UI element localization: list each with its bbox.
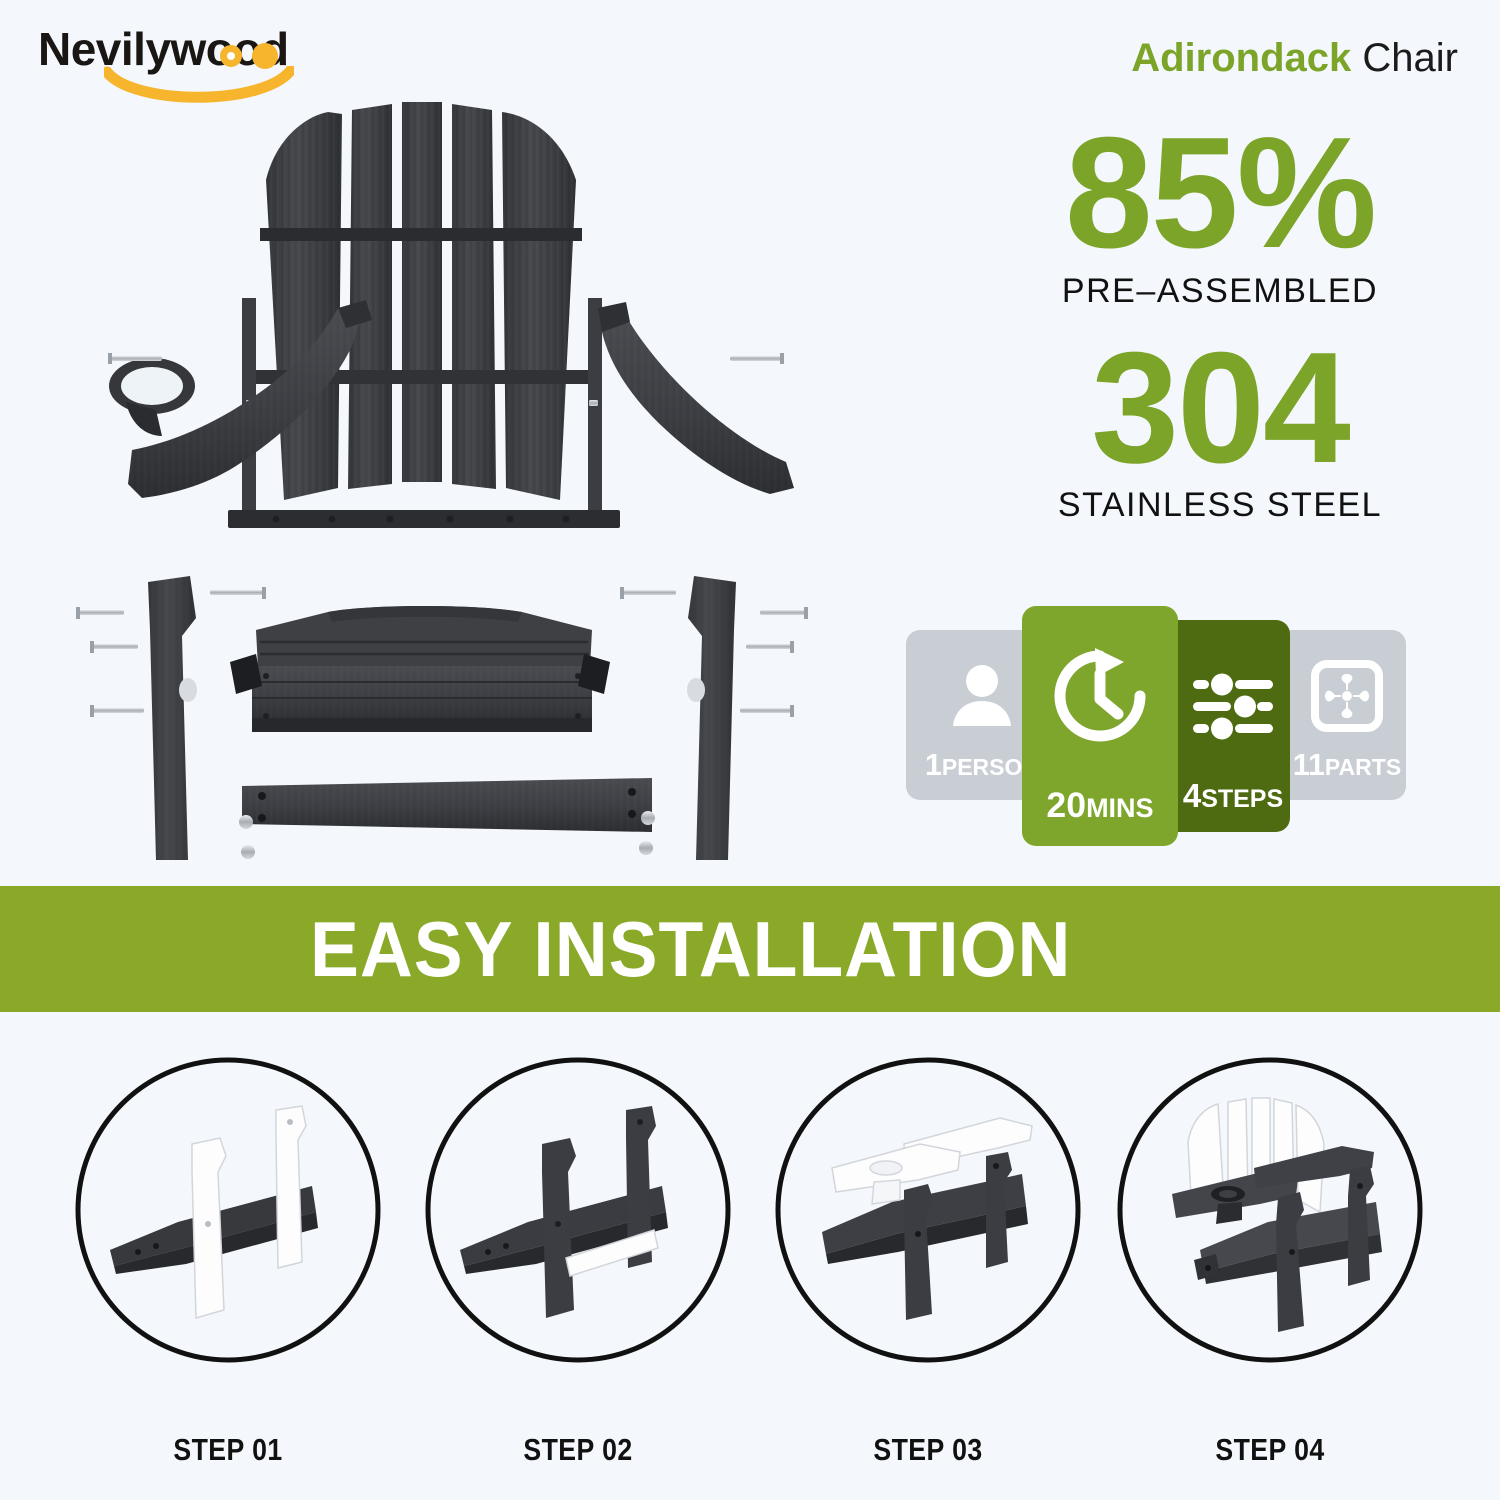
left-leg-part	[148, 576, 197, 860]
badge-unit: STEPS	[1201, 785, 1283, 813]
assembly-info-badges: 1PERSON 20MINS	[898, 600, 1408, 850]
easy-installation-banner: EASY INSTALLATION	[0, 886, 1500, 1012]
step-circle	[424, 1056, 732, 1364]
badge-caption: 11PARTS	[1293, 751, 1401, 781]
step-item: STEP 02	[413, 1046, 743, 1486]
stat-label: STAINLESS STEEL	[980, 486, 1460, 525]
stat-pre-assembled: 85% PRE–ASSEMBLED	[980, 118, 1460, 311]
parts-icon	[1288, 660, 1406, 732]
step-label: STEP 01	[86, 1432, 370, 1468]
banner-title: EASY INSTALLATION	[310, 910, 1071, 988]
badge-number: 11	[1293, 749, 1325, 782]
step-illustration	[1142, 1082, 1398, 1338]
installation-steps: STEP 01 STEP 02	[0, 1046, 1500, 1486]
stat-stainless-steel: 304 STAINLESS STEEL	[980, 333, 1460, 526]
seat-assembly	[230, 606, 610, 732]
step-item: STEP 01	[63, 1046, 393, 1486]
stat-label: PRE–ASSEMBLED	[980, 272, 1460, 311]
stat-value: 304	[980, 333, 1460, 485]
badge-steps: 4STEPS	[1176, 620, 1290, 832]
step-label: STEP 04	[1128, 1432, 1412, 1468]
exploded-chair-diagram	[70, 70, 870, 860]
badge-caption: 4STEPS	[1183, 779, 1283, 812]
badge-number: 1	[925, 749, 942, 782]
product-brandword: Adirondack	[1131, 36, 1351, 80]
right-armrest-part	[598, 302, 794, 494]
stat-value: 85%	[980, 118, 1460, 270]
badge-unit: MINS	[1086, 793, 1154, 823]
product-title: Adirondack Chair	[1131, 38, 1458, 78]
screw	[110, 353, 782, 364]
step-illustration	[800, 1082, 1056, 1338]
badge-unit: PARTS	[1325, 754, 1401, 780]
badge-parts: 11PARTS	[1288, 630, 1406, 800]
step-illustration	[100, 1082, 356, 1338]
step-circle	[1116, 1056, 1424, 1364]
badge-number: 4	[1183, 777, 1201, 814]
sliders-icon	[1176, 672, 1290, 742]
step-item: STEP 03	[763, 1046, 1093, 1486]
right-leg-part	[687, 576, 736, 860]
cross-brace-part	[239, 778, 655, 859]
step-label: STEP 03	[786, 1432, 1070, 1468]
logo-o-ring-icon	[220, 45, 242, 67]
badge-mins: 20MINS	[1022, 606, 1178, 846]
stats-column: 85% PRE–ASSEMBLED 304 STAINLESS STEEL	[980, 118, 1460, 547]
step-label: STEP 02	[436, 1432, 720, 1468]
step-illustration	[450, 1082, 706, 1338]
backrest-assembly	[228, 102, 620, 528]
badge-number: 20	[1046, 785, 1086, 825]
step-circle	[74, 1056, 382, 1364]
clock-icon	[1022, 644, 1178, 748]
badge-caption: 20MINS	[1046, 788, 1153, 824]
product-typeword: Chair	[1362, 36, 1458, 80]
step-item: STEP 04	[1105, 1046, 1435, 1486]
step-circle	[774, 1056, 1082, 1364]
